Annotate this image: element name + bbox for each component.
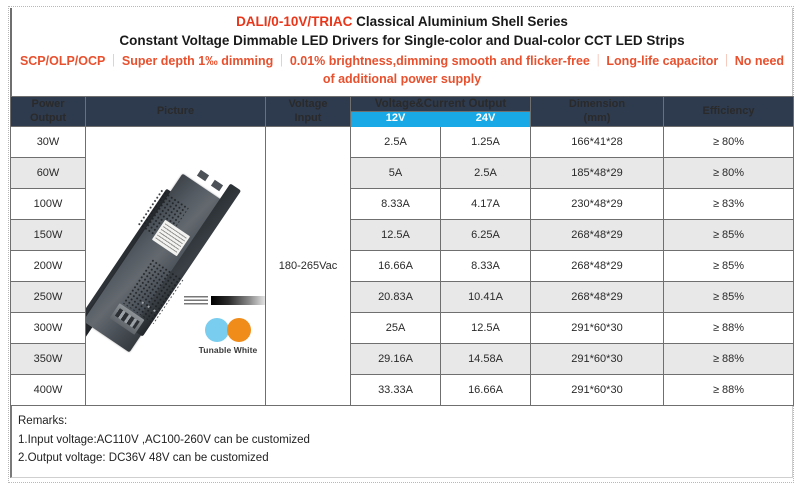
cell-efficiency: ≥ 88% (664, 374, 794, 405)
cell-voltage-input: 180-265Vac (266, 127, 351, 406)
cell-efficiency: ≥ 85% (664, 251, 794, 282)
feature-3: Long-life capacitor (606, 54, 718, 68)
cell-dimension: 185*48*29 (531, 158, 664, 189)
product-image: Tunable White (86, 152, 265, 380)
cell-current-12v: 8.33A (351, 189, 441, 220)
cell-power-output: 30W (11, 127, 86, 158)
cell-dimension: 166*41*28 (531, 127, 664, 158)
th-24v: 24V (441, 112, 531, 127)
cell-dimension: 291*60*30 (531, 343, 664, 374)
cell-current-24v: 1.25A (441, 127, 531, 158)
cell-current-24v: 14.58A (441, 343, 531, 374)
dimming-gradient-badge (184, 294, 265, 306)
th-efficiency: Efficiency (664, 97, 794, 127)
tunable-white-label: Tunable White (199, 345, 258, 355)
cell-power-output: 150W (11, 220, 86, 251)
cell-efficiency: ≥ 85% (664, 220, 794, 251)
cell-dimension: 268*48*29 (531, 251, 664, 282)
title-line-2: Constant Voltage Dimmable LED Drivers fo… (119, 32, 684, 50)
cell-dimension: 268*48*29 (531, 281, 664, 312)
feature-0: SCP/OLP/OCP (20, 54, 105, 68)
feature-sep-1: ｜ (273, 54, 290, 68)
cell-efficiency: ≥ 88% (664, 312, 794, 343)
cell-efficiency: ≥ 80% (664, 127, 794, 158)
cell-current-12v: 25A (351, 312, 441, 343)
cell-current-12v: 16.66A (351, 251, 441, 282)
cell-current-24v: 4.17A (441, 189, 531, 220)
table-head: Power Output Picture Voltage Input Volta… (11, 97, 794, 127)
th-voltage-input-l2: Input (295, 112, 322, 124)
th-power-output-l1: Power (31, 98, 64, 110)
header-row-1: Power Output Picture Voltage Input Volta… (11, 97, 794, 112)
table-row: 30WTunable White180-265Vac2.5A1.25A166*4… (11, 127, 794, 158)
th-dimension: Dimension (mm) (531, 97, 664, 127)
spec-table-wrapper: Power Output Picture Voltage Input Volta… (10, 96, 793, 406)
tunable-white-circles (205, 318, 251, 342)
th-power-output-l2: Output (30, 112, 66, 124)
th-12v: 12V (351, 112, 441, 127)
cell-efficiency: ≥ 88% (664, 343, 794, 374)
cell-current-12v: 20.83A (351, 281, 441, 312)
remarks-block: Remarks: 1.Input voltage:AC110V ,AC100-2… (10, 406, 793, 478)
th-voltage-input-l1: Voltage (289, 98, 328, 110)
cell-dimension: 230*48*29 (531, 189, 664, 220)
cell-current-24v: 16.66A (441, 374, 531, 405)
cell-power-output: 400W (11, 374, 86, 405)
cell-current-24v: 12.5A (441, 312, 531, 343)
th-dimension-l1: Dimension (569, 98, 625, 110)
cell-current-12v: 5A (351, 158, 441, 189)
th-dimension-l2: (mm) (584, 112, 611, 124)
cool-white-circle-icon (205, 318, 229, 342)
cell-dimension: 291*60*30 (531, 374, 664, 405)
title-block: DALI/0-10V/TRIAC Classical Aluminium She… (10, 8, 793, 96)
dimming-caption-icon (184, 296, 208, 305)
feature-sep-3: ｜ (718, 54, 735, 68)
cell-current-12v: 2.5A (351, 127, 441, 158)
dimming-gradient-bar (211, 296, 265, 305)
driver-mount-tab-2 (211, 180, 223, 191)
feature-list: SCP/OLP/OCP｜Super depth 1‰ dimming｜0.01%… (17, 52, 787, 88)
cell-power-output: 100W (11, 189, 86, 220)
title-series: Classical Aluminium Shell Series (352, 14, 568, 29)
cell-current-24v: 2.5A (441, 158, 531, 189)
feature-1: Super depth 1‰ dimming (122, 54, 273, 68)
warm-white-circle-icon (227, 318, 251, 342)
title-line-1: DALI/0-10V/TRIAC Classical Aluminium She… (236, 13, 568, 31)
feature-2: 0.01% brightness,dimming smooth and flic… (290, 54, 590, 68)
th-power-output: Power Output (11, 97, 86, 127)
spec-sheet: DALI/0-10V/TRIAC Classical Aluminium She… (0, 0, 800, 495)
title-protocols: DALI/0-10V/TRIAC (236, 14, 352, 29)
th-voltage-input: Voltage Input (266, 97, 351, 127)
cell-efficiency: ≥ 85% (664, 281, 794, 312)
cell-power-output: 200W (11, 251, 86, 282)
tunable-white-logo: Tunable White (186, 318, 265, 355)
remarks-line-2: 2.Output voltage: DC36V 48V can be custo… (18, 449, 792, 468)
th-voltage-current-output: Voltage&Current Output (351, 97, 531, 112)
cell-current-24v: 8.33A (441, 251, 531, 282)
cell-power-output: 250W (11, 281, 86, 312)
cell-current-12v: 12.5A (351, 220, 441, 251)
cell-efficiency: ≥ 83% (664, 189, 794, 220)
spec-table: Power Output Picture Voltage Input Volta… (10, 96, 794, 406)
feature-sep-0: ｜ (105, 54, 122, 68)
cell-power-output: 60W (11, 158, 86, 189)
cell-current-12v: 33.33A (351, 374, 441, 405)
remarks-heading: Remarks: (18, 412, 792, 431)
cell-product-picture: Tunable White (86, 127, 266, 406)
cell-efficiency: ≥ 80% (664, 158, 794, 189)
remarks-line-1: 1.Input voltage:AC110V ,AC100-260V can b… (18, 431, 792, 450)
cell-dimension: 268*48*29 (531, 220, 664, 251)
table-body: 30WTunable White180-265Vac2.5A1.25A166*4… (11, 127, 794, 406)
cell-power-output: 300W (11, 312, 86, 343)
cell-current-24v: 6.25A (441, 220, 531, 251)
cell-current-24v: 10.41A (441, 281, 531, 312)
cell-power-output: 350W (11, 343, 86, 374)
feature-sep-2: ｜ (590, 54, 607, 68)
cell-current-12v: 29.16A (351, 343, 441, 374)
th-picture: Picture (86, 97, 266, 127)
cell-dimension: 291*60*30 (531, 312, 664, 343)
driver-mount-tab-1 (197, 170, 209, 181)
